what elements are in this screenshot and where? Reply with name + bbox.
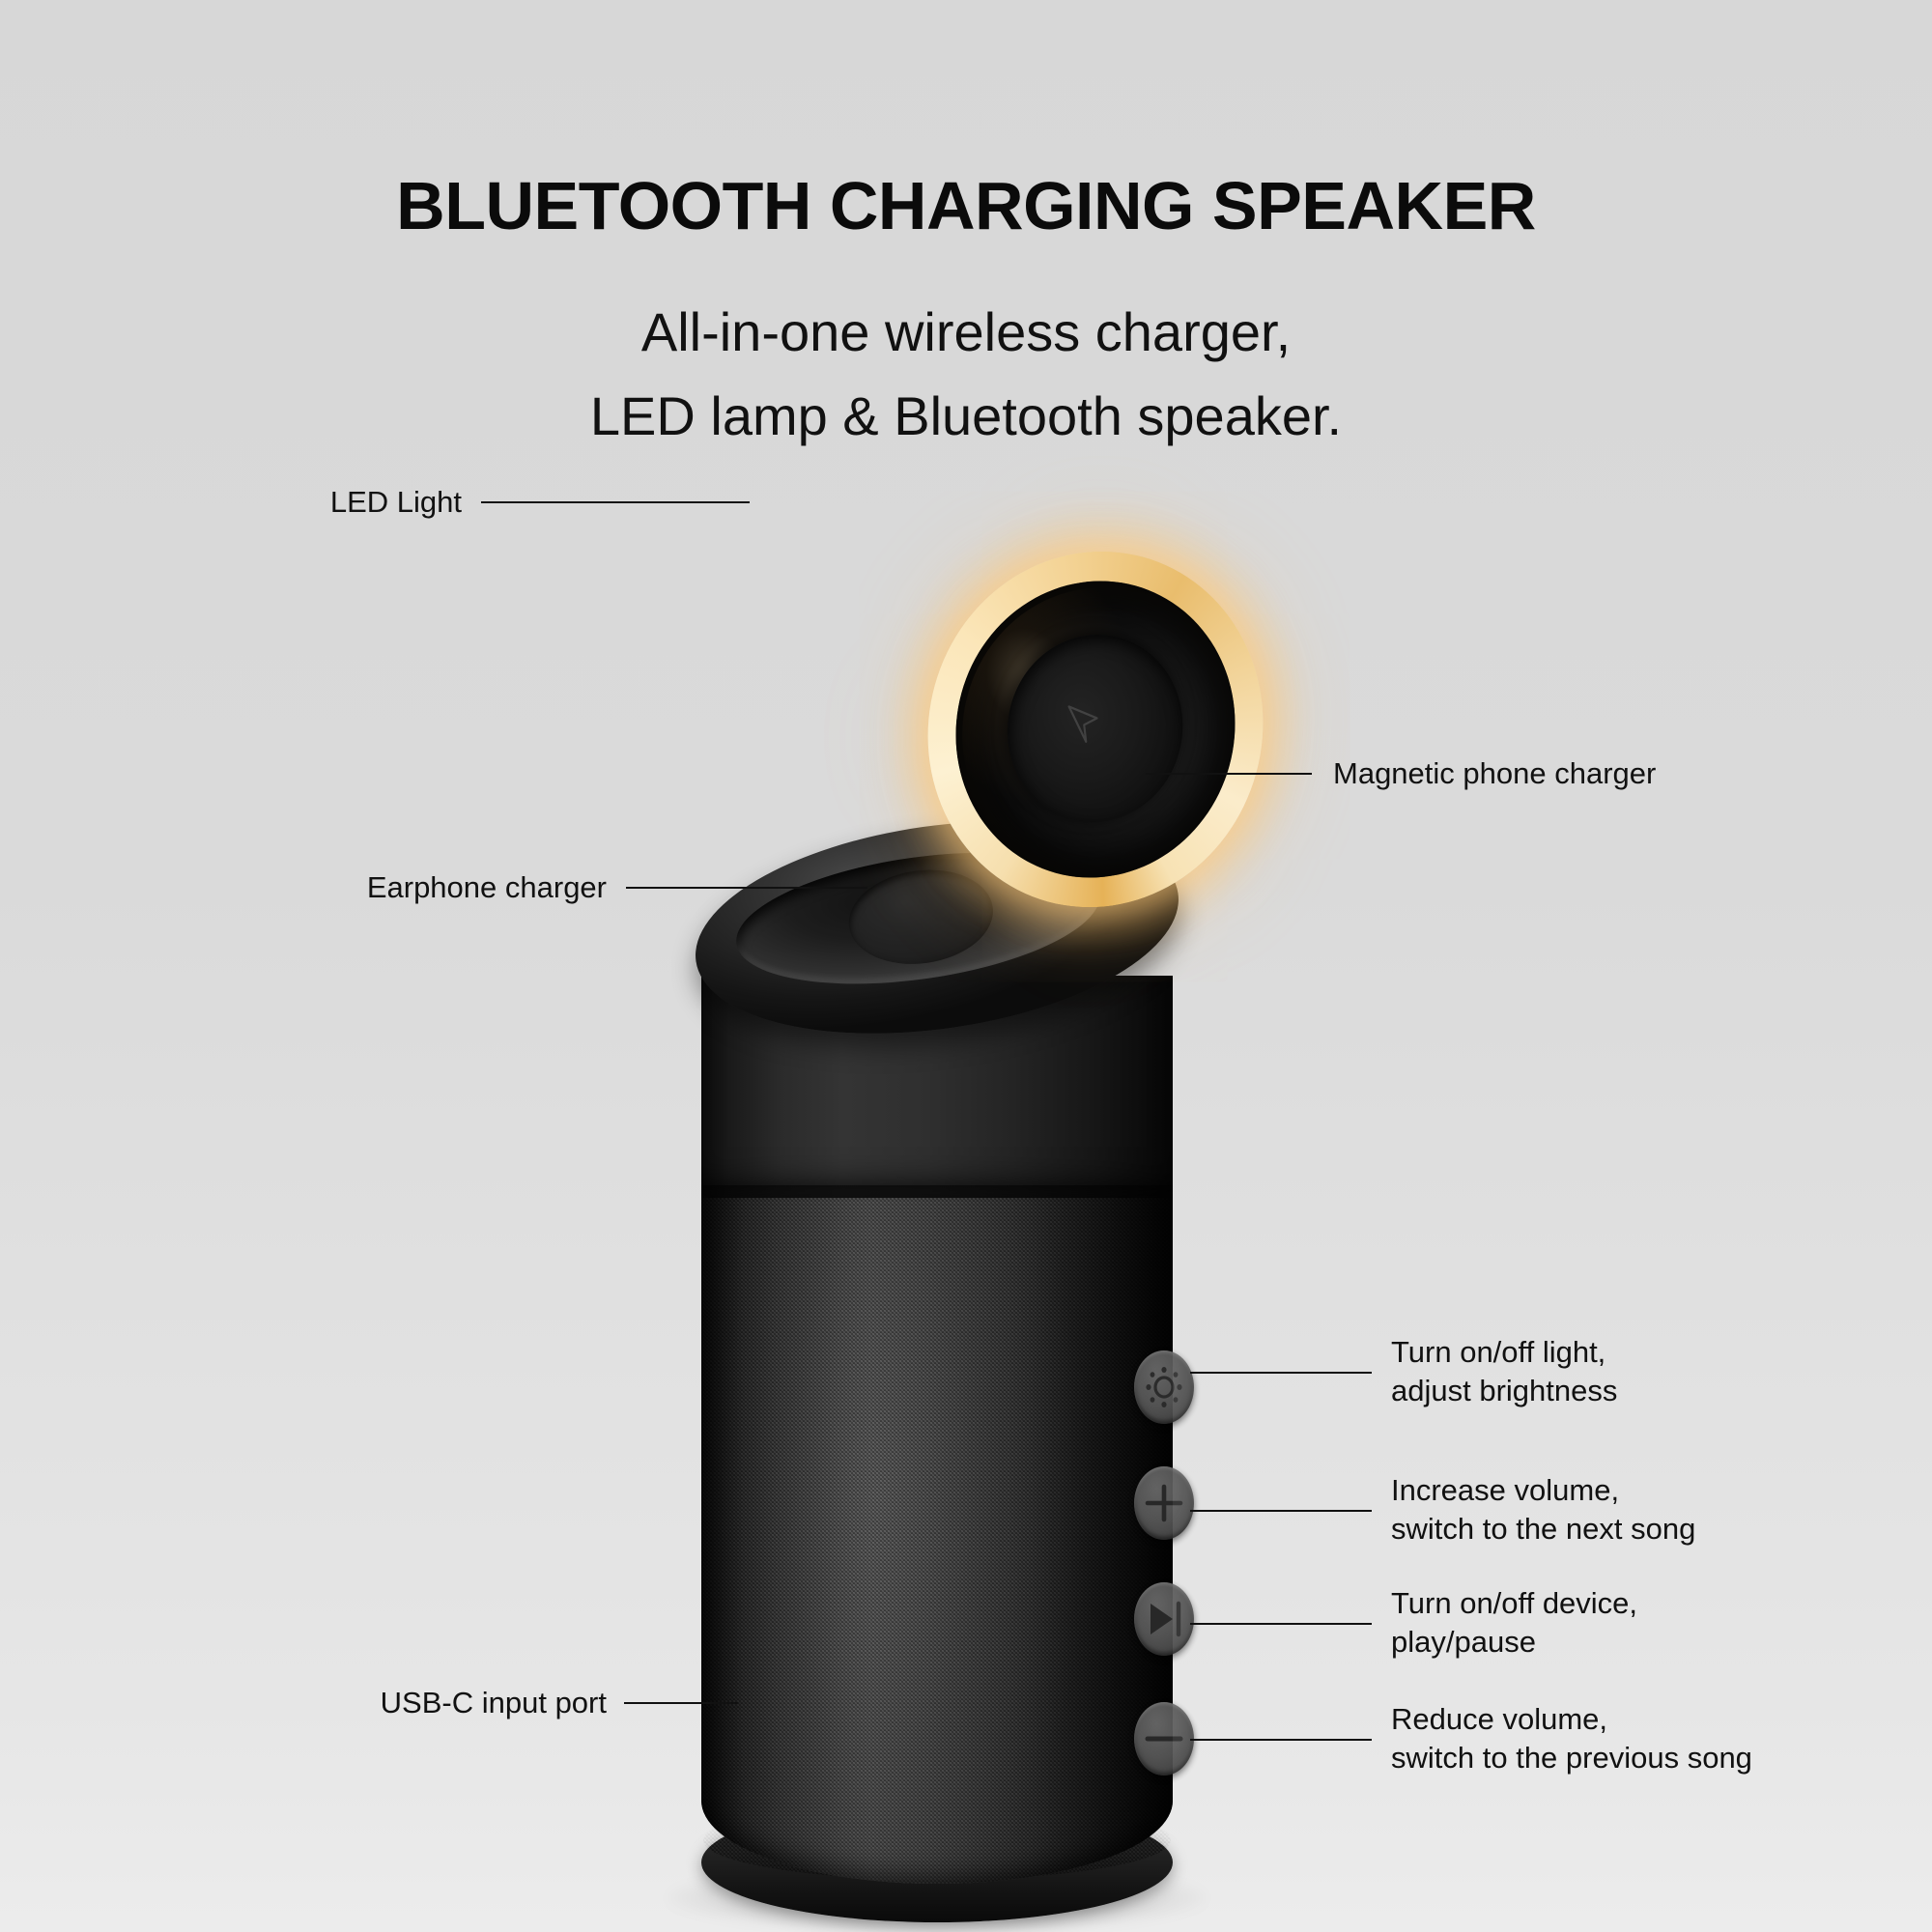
magnetic-charger-pad	[980, 604, 1210, 853]
infographic-canvas: BLUETOOTH CHARGING SPEAKER All-in-one wi…	[0, 0, 1932, 1932]
led-glow-halo	[820, 433, 1371, 1027]
minus-icon	[1134, 1702, 1194, 1776]
leader-line-volume-down	[1190, 1739, 1372, 1741]
callout-power-play: Turn on/off device, play/pause	[1391, 1584, 1913, 1661]
speaker-black-collar	[701, 976, 1173, 1198]
callout-usb-c-port: USB-C input port	[116, 1684, 607, 1722]
earphone-charger-cradle	[728, 833, 1109, 1005]
callout-brightness: Turn on/off light, adjust brightness	[1391, 1333, 1913, 1409]
callout-led-light: LED Light	[116, 483, 462, 522]
subtitle-line-2: LED lamp & Bluetooth speaker.	[0, 374, 1932, 458]
leader-line-usb-c-port	[624, 1702, 738, 1704]
plus-icon	[1134, 1466, 1194, 1540]
leader-line-led-light	[481, 501, 750, 503]
leader-line-volume-up	[1190, 1510, 1372, 1512]
led-light-ring	[876, 493, 1315, 966]
leader-line-magnetic-charger	[1146, 773, 1312, 775]
callout-volume-down: Reduce volume, switch to the previous so…	[1391, 1700, 1932, 1776]
page-title: BLUETOOTH CHARGING SPEAKER	[0, 172, 1932, 240]
leader-line-earphone-charger	[626, 887, 867, 889]
play-pause-icon	[1134, 1582, 1194, 1656]
leader-line-power-play	[1190, 1623, 1372, 1625]
brightness-sun-icon	[1134, 1350, 1194, 1424]
magnetic-charger-face	[913, 532, 1279, 926]
page-subtitle: All-in-one wireless charger, LED lamp & …	[0, 290, 1932, 459]
volume-up-button[interactable]	[1134, 1466, 1194, 1540]
volume-down-button[interactable]	[1134, 1702, 1194, 1776]
subtitle-line-1: All-in-one wireless charger,	[0, 290, 1932, 374]
power-play-pause-button[interactable]	[1134, 1582, 1194, 1656]
led-lamp-disc	[876, 493, 1315, 966]
earphone-cradle-notch	[842, 861, 999, 973]
brightness-button[interactable]	[1134, 1350, 1194, 1424]
disc-bevel-highlight	[922, 542, 1270, 918]
callout-magnetic-charger: Magnetic phone charger	[1333, 754, 1874, 793]
speaker-bottom-rim	[701, 1803, 1173, 1922]
speaker-fabric-grille	[701, 1179, 1173, 1884]
callout-earphone-charger: Earphone charger	[116, 868, 607, 907]
callout-volume-up: Increase volume, switch to the next song	[1391, 1471, 1913, 1548]
speaker-top-lid	[682, 793, 1192, 1062]
product-floor-shadow	[667, 1864, 1207, 1932]
leader-line-brightness	[1190, 1372, 1372, 1374]
magnetic-align-glyph-icon	[1065, 694, 1107, 748]
